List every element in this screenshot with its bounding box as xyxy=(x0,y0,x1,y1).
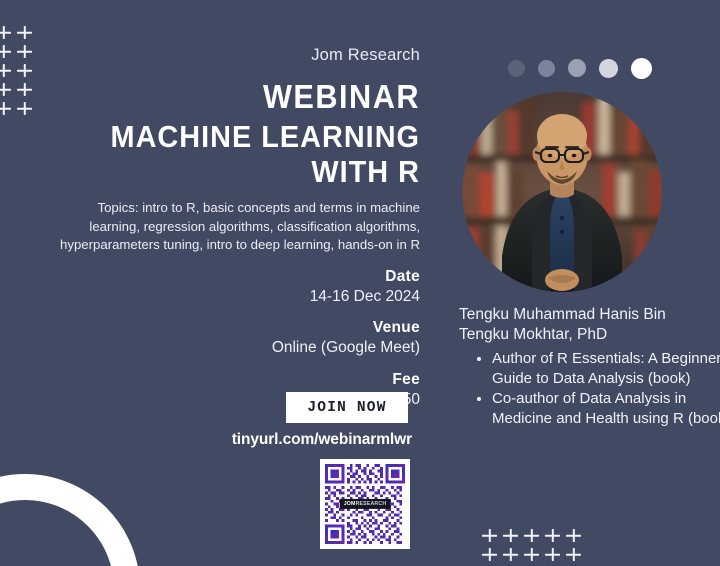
event-detail-date: Date14-16 Dec 2024 xyxy=(20,268,420,306)
qr-code[interactable]: JOMRESEARCH xyxy=(320,459,410,549)
detail-label: Fee xyxy=(20,371,420,390)
plus-icon xyxy=(0,61,14,80)
plus-icon xyxy=(479,526,500,545)
corner-ring-decoration xyxy=(0,474,140,566)
plus-icon xyxy=(479,545,500,564)
webinar-poster: Jom Research WEBINAR MACHINE LEARNING WI… xyxy=(0,0,720,566)
plus-icon xyxy=(0,80,14,99)
signup-url-link[interactable]: tinyurl.com/webinarmlwr xyxy=(200,431,412,449)
plus-icon xyxy=(542,545,563,564)
list-item: Author of R Essentials: A Beginner’s Gui… xyxy=(492,349,720,388)
qr-brand-light: RESEARCH xyxy=(356,500,387,506)
progress-dot-5 xyxy=(631,58,652,79)
detail-label: Date xyxy=(20,268,420,287)
detail-label: Venue xyxy=(20,319,420,338)
speaker-credentials-list: Author of R Essentials: A Beginner’s Gui… xyxy=(470,349,720,429)
progress-dot-2 xyxy=(538,60,555,77)
detail-value: 14-16 Dec 2024 xyxy=(20,287,420,306)
plus-icon xyxy=(521,526,542,545)
speaker-avatar xyxy=(462,92,662,292)
portrait-photo xyxy=(462,92,662,292)
qr-center-brand-label: JOMRESEARCH xyxy=(340,499,391,509)
plus-icon xyxy=(500,526,521,545)
plus-icon xyxy=(542,526,563,545)
event-detail-list: Date14-16 Dec 2024VenueOnline (Google Me… xyxy=(20,268,420,409)
plus-icon xyxy=(500,545,521,564)
plus-icon xyxy=(521,545,542,564)
brand-name: Jom Research xyxy=(20,46,420,65)
progress-dot-3 xyxy=(568,59,586,77)
page-title-webinar: WEBINAR xyxy=(48,79,420,115)
page-title-subject: MACHINE LEARNING WITH R xyxy=(48,119,420,190)
plus-icon xyxy=(0,42,14,61)
plus-icon xyxy=(0,99,14,118)
dot-row xyxy=(508,54,652,82)
detail-value: Online (Google Meet) xyxy=(20,338,420,357)
event-detail-venue: VenueOnline (Google Meet) xyxy=(20,319,420,357)
plus-icon xyxy=(14,23,35,42)
speaker-name: Tengku Muhammad Hanis Bin Tengku Mokhtar… xyxy=(459,305,709,344)
plus-pattern-bottomright-icon xyxy=(479,526,584,564)
topics-description: Topics: intro to R, basic concepts and t… xyxy=(58,199,420,255)
progress-dot-1 xyxy=(508,60,525,77)
join-now-button[interactable]: JOIN NOW xyxy=(286,392,408,423)
plus-icon xyxy=(563,545,584,564)
qr-brand-bold: JOM xyxy=(344,500,356,506)
plus-icon xyxy=(563,526,584,545)
list-item: Co-author of Data Analysis in Medicine a… xyxy=(492,389,720,428)
plus-icon xyxy=(0,23,14,42)
progress-dot-4 xyxy=(599,59,618,78)
left-column: Jom Research WEBINAR MACHINE LEARNING WI… xyxy=(20,46,420,409)
